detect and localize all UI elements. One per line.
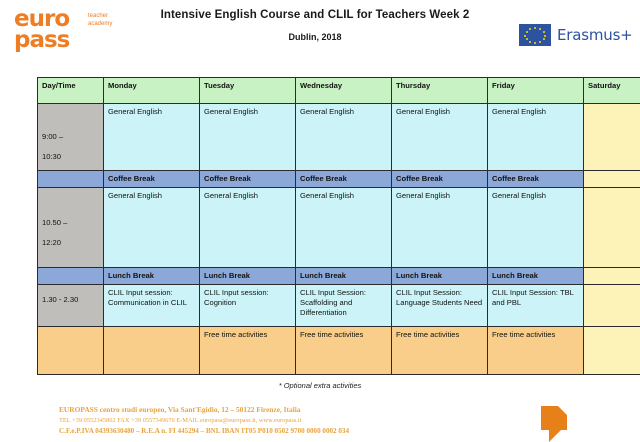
time-label-evening bbox=[38, 327, 104, 375]
column-header-thursday: Thursday bbox=[392, 78, 488, 104]
footnote: * Optional extra activities bbox=[0, 381, 640, 390]
page-subtitle: Dublin, 2018 bbox=[130, 32, 500, 42]
cell-wednesday-evening: Free time activities bbox=[296, 327, 392, 375]
cell-monday-coffee: Coffee Break bbox=[104, 171, 200, 188]
time-line-1: 1.30 - 2.30 bbox=[42, 290, 100, 310]
cell-tuesday-morning2: General English bbox=[200, 188, 296, 268]
time-label-morning1: 9:00 – 10:30 bbox=[38, 104, 104, 171]
cell-thursday-evening: Free time activities bbox=[392, 327, 488, 375]
cell-monday-morning2: General English bbox=[104, 188, 200, 268]
logo-subtitle: teacher academy bbox=[88, 13, 112, 28]
erasmus-logo: Erasmus+ bbox=[519, 24, 633, 46]
time-label-lunch-break bbox=[38, 268, 104, 285]
column-header-monday: Monday bbox=[104, 78, 200, 104]
cell-friday-morning1: General English bbox=[488, 104, 584, 171]
cell-friday-coffee: Coffee Break bbox=[488, 171, 584, 188]
footer-line-2: TEL +39 0552345802 FAX +39 0557349670 E-… bbox=[59, 415, 349, 426]
cell-monday-morning1: General English bbox=[104, 104, 200, 171]
time-line-1: 9:00 – bbox=[42, 127, 100, 147]
cell-monday-lunch: Lunch Break bbox=[104, 268, 200, 285]
table-row: 9:00 – 10:30 General English General Eng… bbox=[38, 104, 640, 171]
cell-saturday-coffee bbox=[584, 171, 640, 188]
logo-subtitle-line1: teacher bbox=[88, 13, 108, 19]
logo-subtitle-line2: academy bbox=[88, 21, 112, 27]
time-label-afternoon: 1.30 - 2.30 bbox=[38, 285, 104, 327]
time-label-coffee-break bbox=[38, 171, 104, 188]
cell-saturday-afternoon bbox=[584, 285, 640, 327]
cell-wednesday-afternoon: CLIL Input Session: Scaffolding and Diff… bbox=[296, 285, 392, 327]
column-header-friday: Friday bbox=[488, 78, 584, 104]
cell-thursday-morning1: General English bbox=[392, 104, 488, 171]
cell-thursday-coffee: Coffee Break bbox=[392, 171, 488, 188]
cell-monday-afternoon: CLIL Input session: Communication in CLI… bbox=[104, 285, 200, 327]
europass-logo: euro pass teacher academy bbox=[14, 8, 129, 54]
table-row-break: Lunch Break Lunch Break Lunch Break Lunc… bbox=[38, 268, 640, 285]
cell-wednesday-lunch: Lunch Break bbox=[296, 268, 392, 285]
table-row: 1.30 - 2.30 CLIL Input session: Communic… bbox=[38, 285, 640, 327]
cell-tuesday-lunch: Lunch Break bbox=[200, 268, 296, 285]
table-header-row: Day/Time Monday Tuesday Wednesday Thursd… bbox=[38, 78, 640, 104]
cell-monday-evening bbox=[104, 327, 200, 375]
cell-thursday-lunch: Lunch Break bbox=[392, 268, 488, 285]
title-block: Intensive English Course and CLIL for Te… bbox=[130, 9, 500, 42]
time-label-morning2: 10.50 – 12:20 bbox=[38, 188, 104, 268]
cell-thursday-morning2: General English bbox=[392, 188, 488, 268]
cell-tuesday-afternoon: CLIL Input session: Cognition bbox=[200, 285, 296, 327]
page-header: euro pass teacher academy Intensive Engl… bbox=[0, 0, 640, 72]
time-line-2: 12:20 bbox=[42, 233, 100, 253]
column-header-wednesday: Wednesday bbox=[296, 78, 392, 104]
column-header-daytime: Day/Time bbox=[38, 78, 104, 104]
footer-line-1: EUROPASS centro studi europeo, Via Sant'… bbox=[59, 404, 349, 415]
cell-saturday-morning1 bbox=[584, 104, 640, 171]
footer-address: EUROPASS centro studi europeo, Via Sant'… bbox=[59, 404, 349, 437]
timetable: Day/Time Monday Tuesday Wednesday Thursd… bbox=[37, 77, 640, 375]
cell-tuesday-coffee: Coffee Break bbox=[200, 171, 296, 188]
footer-line-3: C.F.e.P.IVA 04393630480 – R.E.A n. FI 44… bbox=[59, 426, 349, 437]
cell-wednesday-coffee: Coffee Break bbox=[296, 171, 392, 188]
column-header-tuesday: Tuesday bbox=[200, 78, 296, 104]
cell-tuesday-evening: Free time activities bbox=[200, 327, 296, 375]
time-line-1: 10.50 – bbox=[42, 213, 100, 233]
cell-wednesday-morning1: General English bbox=[296, 104, 392, 171]
cell-saturday-lunch bbox=[584, 268, 640, 285]
cell-thursday-afternoon: CLIL Input Session: Language Students Ne… bbox=[392, 285, 488, 327]
table-row-break: Coffee Break Coffee Break Coffee Break C… bbox=[38, 171, 640, 188]
cell-friday-morning2: General English bbox=[488, 188, 584, 268]
cell-friday-afternoon: CLIL Input Session: TBL and PBL bbox=[488, 285, 584, 327]
cell-friday-lunch: Lunch Break bbox=[488, 268, 584, 285]
cell-friday-evening: Free time activities bbox=[488, 327, 584, 375]
cell-wednesday-morning2: General English bbox=[296, 188, 392, 268]
page-title: Intensive English Course and CLIL for Te… bbox=[130, 9, 500, 21]
table-row: Free time activities Free time activitie… bbox=[38, 327, 640, 375]
quote-mark-icon bbox=[541, 406, 567, 442]
time-line-2: 10:30 bbox=[42, 147, 100, 167]
column-header-saturday: Saturday bbox=[584, 78, 640, 104]
logo-text-pass: pass bbox=[14, 30, 129, 51]
erasmus-label: Erasmus+ bbox=[557, 26, 633, 44]
cell-tuesday-morning1: General English bbox=[200, 104, 296, 171]
cell-saturday-morning2 bbox=[584, 188, 640, 268]
table-row: 10.50 – 12:20 General English General En… bbox=[38, 188, 640, 268]
eu-flag-icon bbox=[519, 24, 551, 46]
cell-saturday-evening bbox=[584, 327, 640, 375]
